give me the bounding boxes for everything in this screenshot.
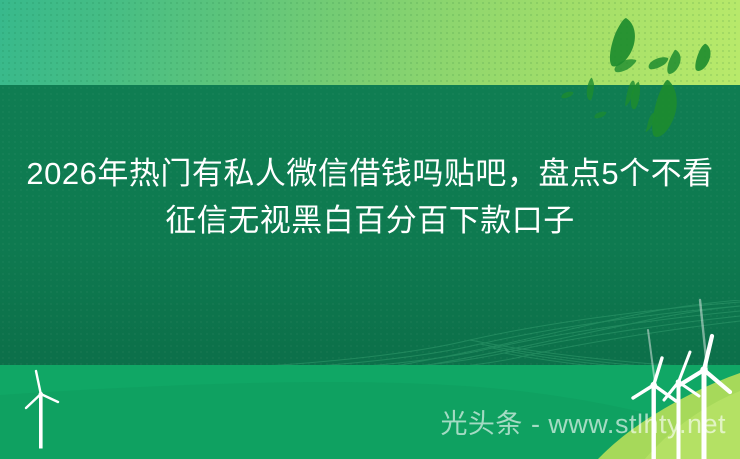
page-title: 2026年热门有私人微信借钱吗贴吧，盘点5个不看征信无视黑白百分百下款口子	[0, 150, 740, 244]
watermark: 光头条 - www.stlhty.net	[440, 402, 726, 441]
dot-texture-overlay	[0, 0, 740, 90]
eco-green-banner: 2026年热门有私人微信借钱吗贴吧，盘点5个不看征信无视黑白百分百下款口子 光头…	[0, 0, 740, 459]
top-gradient-band	[0, 0, 740, 90]
